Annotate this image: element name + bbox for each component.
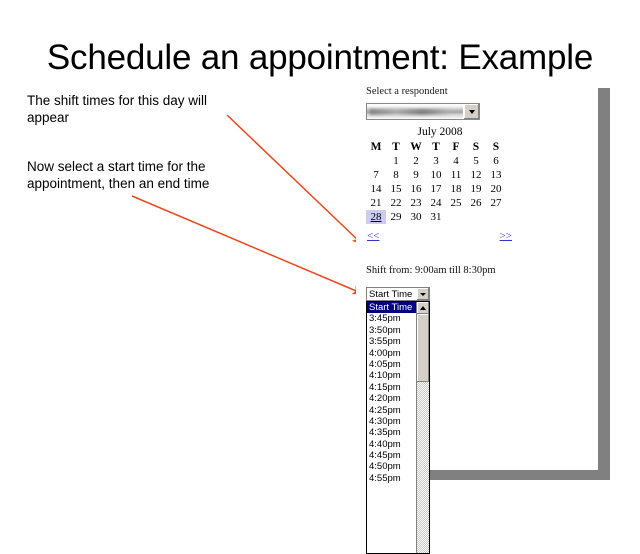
calendar-week-row: 78910111213 (366, 168, 506, 182)
chevron-down-icon[interactable] (417, 288, 429, 300)
dropdown-option[interactable]: Start Time (367, 302, 416, 313)
calendar-week-row: 123456 (366, 154, 506, 168)
calendar-weekday-5: S (466, 140, 486, 154)
calendar-day-1[interactable]: 1 (386, 154, 406, 168)
calendar-day-28[interactable]: 28 (366, 210, 386, 224)
calendar-weekday-6: S (486, 140, 506, 154)
dropdown-option[interactable]: 4:20pm (367, 393, 416, 404)
calendar-day-4[interactable]: 4 (446, 154, 466, 168)
triangle-up-icon[interactable] (417, 302, 429, 314)
shift-hours-text: Shift from: 9:00am till 8:30pm (366, 265, 496, 276)
calendar-day-21[interactable]: 21 (366, 196, 386, 210)
calendar-day-25[interactable]: 25 (446, 196, 466, 210)
calendar-prev-link[interactable]: << (367, 230, 379, 242)
calendar-day-3[interactable]: 3 (426, 154, 446, 168)
calendar-day-17[interactable]: 17 (426, 182, 446, 196)
calendar-day-15[interactable]: 15 (386, 182, 406, 196)
start-time-dropdown-list[interactable]: Start Time3:45pm3:50pm3:55pm4:00pm4:05pm… (366, 301, 430, 554)
arrow-to-calendar (227, 115, 361, 243)
start-time-options[interactable]: Start Time3:45pm3:50pm3:55pm4:00pm4:05pm… (367, 302, 416, 553)
calendar-day-29[interactable]: 29 (386, 210, 406, 224)
dropdown-option[interactable]: 3:50pm (367, 325, 416, 336)
calendar-day-22[interactable]: 22 (386, 196, 406, 210)
calendar: July 2008 MTWTFSS 1234567891011121314151… (366, 126, 506, 244)
respondent-label: Select a respondent (366, 86, 448, 97)
calendar-day-26[interactable]: 26 (466, 196, 486, 210)
dropdown-option[interactable]: 4:30pm (367, 416, 416, 427)
calendar-week-row: 28293031 (366, 210, 506, 224)
chevron-down-icon[interactable] (463, 104, 479, 119)
calendar-header-row: MTWTFSS (366, 140, 506, 154)
dropdown-option[interactable]: 4:10pm (367, 370, 416, 381)
calendar-day-8[interactable]: 8 (386, 168, 406, 182)
scroll-thumb[interactable] (417, 314, 429, 382)
calendar-day-empty (486, 210, 506, 224)
calendar-weekday-0: M (366, 140, 386, 154)
dropdown-option[interactable]: 4:45pm (367, 450, 416, 461)
arrow-to-start-time (132, 196, 361, 293)
calendar-day-23[interactable]: 23 (406, 196, 426, 210)
calendar-day-18[interactable]: 18 (446, 182, 466, 196)
calendar-month-label: July 2008 (366, 126, 506, 138)
calendar-day-19[interactable]: 19 (466, 182, 486, 196)
calendar-day-30[interactable]: 30 (406, 210, 426, 224)
calendar-grid: MTWTFSS 12345678910111213141516171819202… (366, 140, 506, 224)
dropdown-option[interactable]: 4:05pm (367, 359, 416, 370)
dropdown-option[interactable]: 4:15pm (367, 382, 416, 393)
scheduling-app-panel: Select a respondent July 2008 MTWTFSS 12… (356, 84, 598, 470)
dropdown-option[interactable]: 4:40pm (367, 439, 416, 450)
page-title: Schedule an appointment: Example (0, 38, 640, 78)
calendar-day-empty (366, 154, 386, 168)
callout-shift-times: The shift times for this day will appear (27, 92, 237, 126)
calendar-day-11[interactable]: 11 (446, 168, 466, 182)
calendar-day-7[interactable]: 7 (366, 168, 386, 182)
calendar-day-6[interactable]: 6 (486, 154, 506, 168)
slide: Schedule an appointment: Example The shi… (0, 0, 640, 480)
calendar-day-31[interactable]: 31 (426, 210, 446, 224)
calendar-day-10[interactable]: 10 (426, 168, 446, 182)
calendar-nav: << >> (366, 230, 514, 244)
dropdown-option[interactable]: 3:55pm (367, 336, 416, 347)
respondent-select[interactable] (366, 103, 480, 120)
calendar-weekday-4: F (446, 140, 466, 154)
calendar-day-12[interactable]: 12 (466, 168, 486, 182)
calendar-week-row: 14151617181920 (366, 182, 506, 196)
calendar-day-9[interactable]: 9 (406, 168, 426, 182)
calendar-day-27[interactable]: 27 (486, 196, 506, 210)
dropdown-option[interactable]: 4:25pm (367, 405, 416, 416)
start-time-value: Start Time (367, 289, 417, 300)
calendar-day-16[interactable]: 16 (406, 182, 426, 196)
calendar-day-empty (446, 210, 466, 224)
dropdown-scrollbar[interactable] (416, 302, 429, 553)
panel-shadow-right (598, 88, 610, 472)
calendar-next-link[interactable]: >> (500, 230, 512, 242)
dropdown-option[interactable]: 4:50pm (367, 461, 416, 472)
calendar-day-14[interactable]: 14 (366, 182, 386, 196)
calendar-day-20[interactable]: 20 (486, 182, 506, 196)
calendar-day-13[interactable]: 13 (486, 168, 506, 182)
start-time-select[interactable]: Start Time (366, 287, 430, 301)
calendar-day-5[interactable]: 5 (466, 154, 486, 168)
respondent-value (367, 104, 463, 119)
calendar-week-row: 21222324252627 (366, 196, 506, 210)
dropdown-option[interactable]: 4:00pm (367, 348, 416, 359)
dropdown-option[interactable]: 4:35pm (367, 427, 416, 438)
dropdown-option[interactable]: 4:55pm (367, 473, 416, 484)
callout-select-start-time: Now select a start time for the appointm… (27, 158, 247, 192)
calendar-weekday-1: T (386, 140, 406, 154)
calendar-day-empty (466, 210, 486, 224)
calendar-weekday-3: T (426, 140, 446, 154)
calendar-weekday-2: W (406, 140, 426, 154)
calendar-day-24[interactable]: 24 (426, 196, 446, 210)
calendar-day-2[interactable]: 2 (406, 154, 426, 168)
dropdown-option[interactable]: 3:45pm (367, 313, 416, 324)
